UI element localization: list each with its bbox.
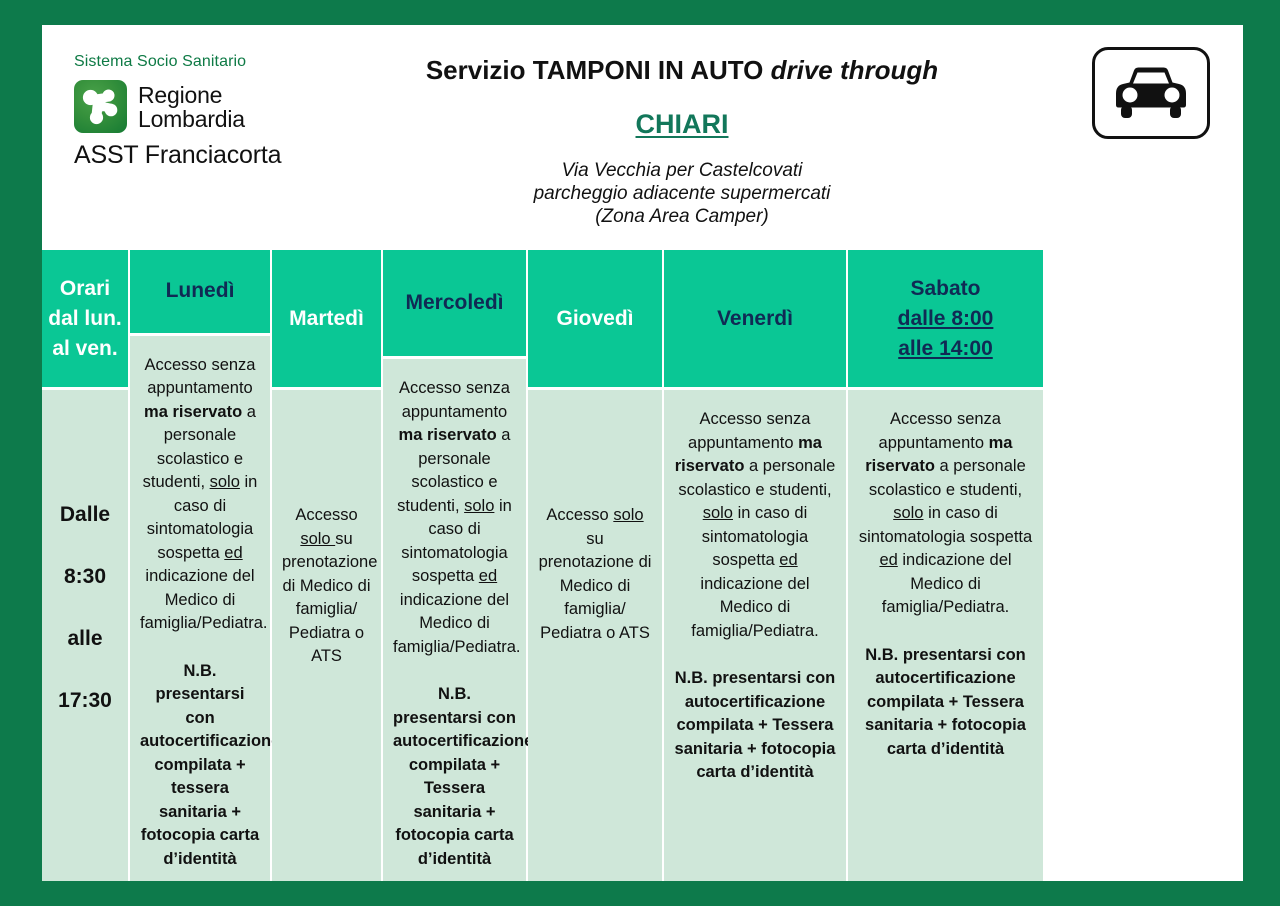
opening-hours: Dalle 8:30 alle 17:30 [52,408,118,732]
page-title-plain: Servizio TAMPONI IN AUTO [426,55,771,85]
orari-line-3: al ven. [52,337,117,360]
column-header-lunedi-label: Lunedì [166,276,235,306]
column-orari: Orari dal lun. al ven. Dalle 8:30 alle 1… [42,250,130,881]
column-header-martedi: Martedì [272,250,381,390]
column-mercoledi: Mercoledì Accesso senza appuntamento ma … [383,250,528,881]
logo-region-line2: Lombardia [138,106,245,132]
column-header-orari: Orari dal lun. al ven. [42,250,128,390]
orari-line-2: dal lun. [48,307,122,330]
column-header-sabato: Sabato dalle 8:00 alle 14:00 [848,250,1043,390]
cell-text-martedi: Accesso solo su prenotazione di Medico d… [282,504,371,669]
column-body-sabato: Accesso senza appuntamento ma riservato … [848,390,1043,881]
page-title: Servizio TAMPONI IN AUTO drive through [342,55,1022,86]
hours-dalle-label: Dalle [60,503,110,526]
orari-line-1: Orari [60,277,110,300]
column-giovedi: Giovedì Accesso solo su prenotazione di … [528,250,664,881]
column-lunedi: Lunedì Accesso senza appuntamento ma ris… [130,250,272,881]
cell-note-mercoledi: N.B. presentarsi con autocertificazione … [393,683,516,871]
sabato-open-time: dalle 8:00 [898,304,994,334]
column-header-lunedi: Lunedì [130,250,270,336]
hours-start-time: 8:30 [64,565,106,588]
logo-row: Regione Lombardia [74,80,334,133]
logo-tagline: Sistema Socio Sanitario [74,53,334,71]
column-header-sabato-label: Sabato dalle 8:00 alle 14:00 [898,274,994,364]
column-venerdi: Venerdì Accesso senza appuntamento ma ri… [664,250,848,881]
column-body-venerdi: Accesso senza appuntamento ma riservato … [664,390,846,881]
column-header-martedi-label: Martedì [289,304,364,334]
column-body-mercoledi: Accesso senza appuntamento ma riservato … [383,359,526,881]
page-title-italic: drive through [771,55,939,85]
column-body-giovedi: Accesso solo su prenotazione di Medico d… [528,390,662,881]
logo-agency-name: ASST Franciacorta [74,141,334,170]
cell-note-lunedi: N.B. presentarsi con autocertificazione … [140,660,260,872]
logo-region-name: Regione Lombardia [138,83,245,131]
column-body-orari: Dalle 8:30 alle 17:30 [42,390,128,881]
column-header-mercoledi: Mercoledì [383,250,526,359]
cell-text-mercoledi: Accesso senza appuntamento ma riservato … [393,377,516,659]
cell-note-venerdi: N.B. presentarsi con autocertificazione … [674,667,836,785]
column-header-venerdi: Venerdì [664,250,846,390]
header-panel: Sistema Socio Sanitario [42,25,1243,250]
address-block: Via Vecchia per Castelcovati parcheggio … [342,159,1022,228]
cell-text-lunedi: Accesso senza appuntamento ma riservato … [140,354,260,636]
address-line-2: parcheggio adiacente supermercati [534,183,831,204]
column-header-giovedi: Giovedì [528,250,662,390]
column-header-mercoledi-label: Mercoledì [405,288,503,318]
column-martedi: Martedì Accesso solo su prenotazione di … [272,250,383,881]
cell-note-sabato: N.B. presentarsi con autocertificazione … [858,644,1033,762]
cell-text-venerdi: Accesso senza appuntamento ma riservato … [674,408,836,643]
organization-logo: Sistema Socio Sanitario [74,53,334,170]
address-line-1: Via Vecchia per Castelcovati [562,160,803,181]
sabato-day-label: Sabato [910,277,980,300]
city-name: CHIARI [342,109,1022,140]
schedule-table: Orari dal lun. al ven. Dalle 8:30 alle 1… [42,250,1243,881]
column-sabato: Sabato dalle 8:00 alle 14:00 Accesso sen… [848,250,1043,881]
hours-alle-label: alle [67,627,102,650]
address-line-3: (Zona Area Camper) [595,206,769,227]
title-block: Servizio TAMPONI IN AUTO drive through C… [342,55,1022,228]
column-body-martedi: Accesso solo su prenotazione di Medico d… [272,390,381,881]
logo-region-line1: Regione [138,82,222,108]
column-header-giovedi-label: Giovedì [556,304,633,334]
cell-text-giovedi: Accesso solo su prenotazione di Medico d… [538,504,652,645]
column-header-venerdi-label: Venerdì [717,304,793,334]
rosa-camuna-icon [74,80,127,133]
poster-root: Sistema Socio Sanitario [0,0,1280,906]
cell-text-sabato: Accesso senza appuntamento ma riservato … [858,408,1033,620]
hours-end-time: 17:30 [58,689,112,712]
column-header-orari-label: Orari dal lun. al ven. [48,274,122,364]
car-front-icon [1092,47,1210,139]
sabato-close-time: alle 14:00 [898,334,994,364]
column-body-lunedi: Accesso senza appuntamento ma riservato … [130,336,270,882]
